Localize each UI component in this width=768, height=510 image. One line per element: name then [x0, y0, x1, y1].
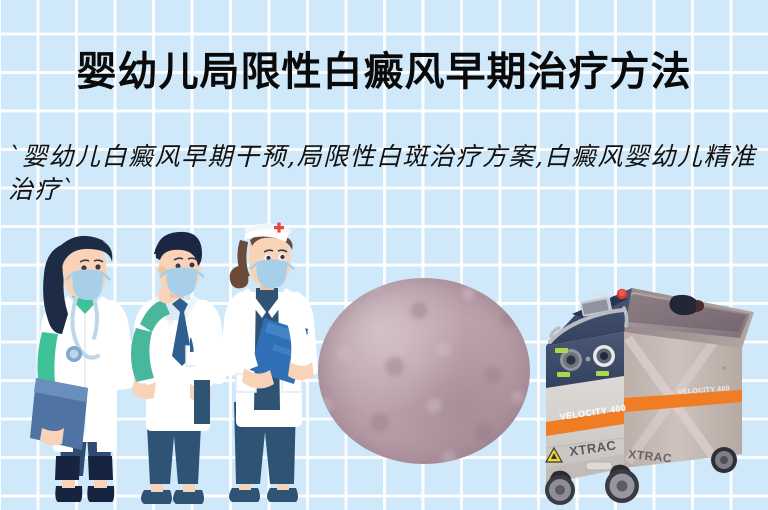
vitiligo-skin-closeup [318, 278, 530, 464]
excimer-laser-device: VELOCITY 400 VELOCITY 400 XTRAC XTRAC [528, 272, 764, 510]
poster-canvas: VELOCITY 400 VELOCITY 400 XTRAC XTRAC 婴幼… [0, 0, 768, 510]
skin-texture [318, 278, 530, 464]
page-title: 婴幼儿局限性白癜风早期治疗方法 [0, 48, 768, 96]
page-subtitle: `婴幼儿白癜风早期干预,局限性白斑治疗方案,白癜风婴幼儿精准治疗` [8, 140, 760, 206]
figure-nurse [212, 222, 327, 510]
